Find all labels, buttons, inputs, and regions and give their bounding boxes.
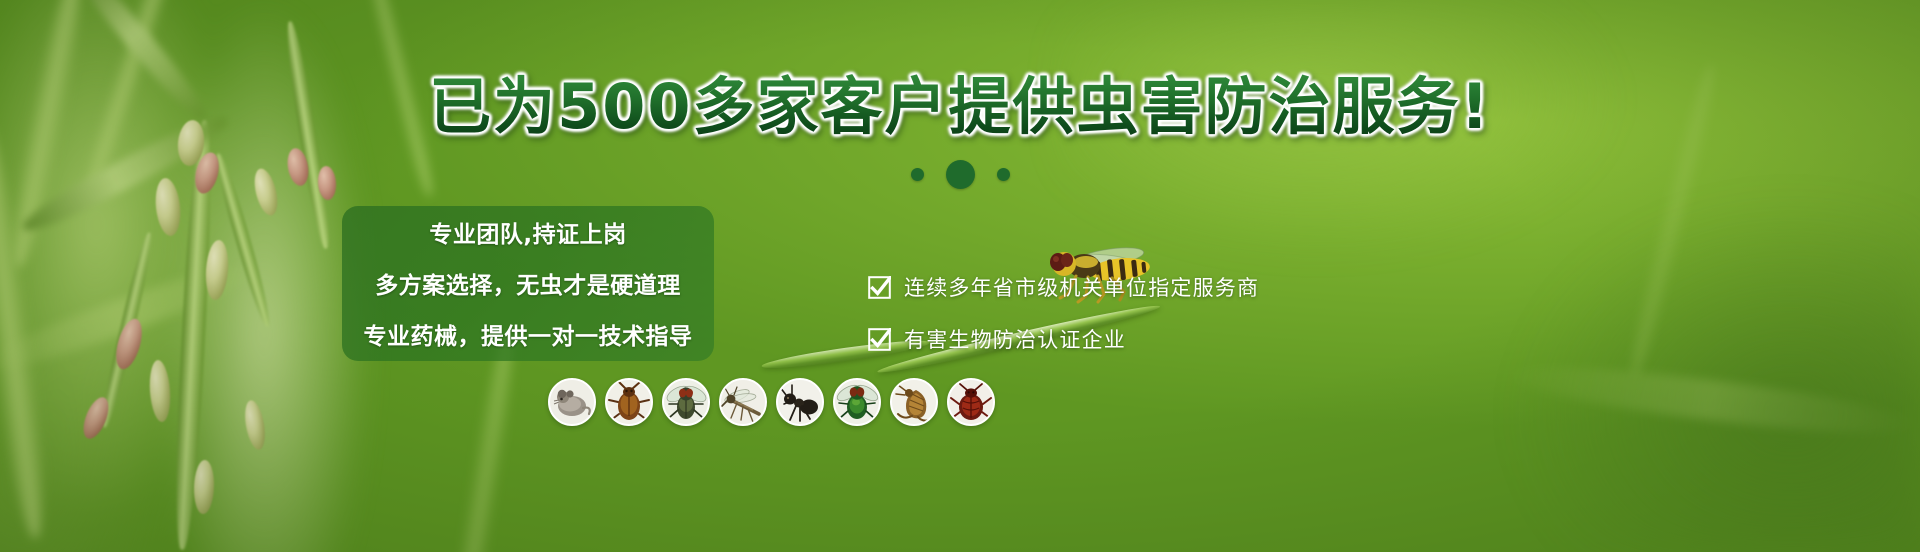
certification-list: 连续多年省市级机关单位指定服务商 有害生物防治认证企业 <box>868 272 1259 376</box>
headline-container: 已为500多家客户提供虫害防治服务! <box>0 74 1920 140</box>
selling-point-line-1: 专业团队,持证上岗 <box>429 215 626 249</box>
cockroach-icon[interactable] <box>605 378 653 426</box>
mosquito-icon[interactable] <box>719 378 767 426</box>
decor-dot-small <box>997 168 1010 181</box>
selling-points-panel: 专业团队,持证上岗 多方案选择，无虫才是硬道理 专业药械，提供一对一技术指导 <box>342 206 714 361</box>
list-item: 有害生物防治认证企业 <box>868 324 1259 354</box>
bedbug-icon[interactable] <box>947 378 995 426</box>
decor-dot-small <box>911 168 924 181</box>
fly-icon[interactable] <box>662 378 710 426</box>
decor-dot-large <box>946 160 975 189</box>
list-item: 连续多年省市级机关单位指定服务商 <box>868 272 1259 302</box>
promo-banner: 已为500多家客户提供虫害防治服务! 专业团队,持证上岗 多方案选择，无虫才是硬… <box>0 0 1920 552</box>
ant-icon[interactable] <box>776 378 824 426</box>
selling-point-line-3: 专业药械，提供一对一技术指导 <box>364 317 693 351</box>
blowfly-icon[interactable] <box>833 378 881 426</box>
checkbox-checked-icon <box>868 276 891 299</box>
flea-icon[interactable] <box>890 378 938 426</box>
checkbox-checked-icon <box>868 328 891 351</box>
selling-point-line-2: 多方案选择，无虫才是硬道理 <box>375 266 681 300</box>
certification-label: 有害生物防治认证企业 <box>904 324 1126 354</box>
page-title: 已为500多家客户提供虫害防治服务! <box>429 74 1491 140</box>
certification-label: 连续多年省市级机关单位指定服务商 <box>904 272 1259 302</box>
pest-icon-row <box>548 378 995 426</box>
decorative-dots <box>0 160 1920 189</box>
mouse-icon[interactable] <box>548 378 596 426</box>
